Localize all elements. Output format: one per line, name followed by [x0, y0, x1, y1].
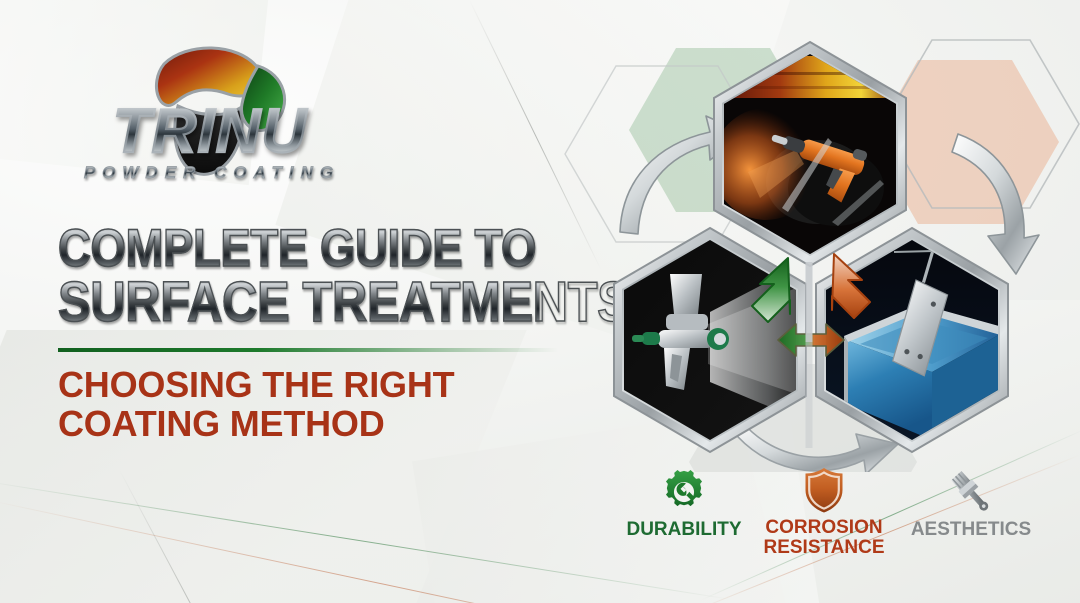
bg-hairline-gray-1	[119, 470, 289, 603]
feature-label: DURABILITY	[608, 520, 760, 540]
trefoil-ribbon-icon: TRINU POWDER COATING	[52, 36, 372, 186]
feature-aesthetics[interactable]: AESTHETICS	[888, 468, 1054, 540]
headline-line-1: COMPLETE GUIDE TO	[58, 224, 540, 274]
gear-wrench-icon	[608, 468, 760, 516]
logo-wordmark: TRINU	[113, 97, 309, 166]
title-divider	[58, 348, 558, 352]
logo-tagline: POWDER COATING	[84, 163, 340, 182]
brand-logo[interactable]: TRINU POWDER COATING	[52, 36, 372, 186]
paintbrush-icon	[888, 468, 1054, 516]
page-title: COMPLETE GUIDE TO SURFACE TREATMENTS	[58, 224, 618, 329]
poster-canvas: TRINU POWDER COATING COMPLETE GUIDE TO S…	[0, 0, 1080, 603]
feature-corrosion-resistance[interactable]: CORROSION RESISTANCE	[748, 466, 900, 558]
feature-badges: DURABILITY CORROSION RESISTANCE	[608, 466, 1054, 566]
coating-methods-graphic	[560, 12, 1080, 472]
shield-icon	[748, 466, 900, 514]
headline-line-2: SURFACE TREATMENTS	[58, 276, 540, 330]
feature-label: CORROSION RESISTANCE	[748, 518, 900, 558]
page-subtitle: CHOOSING THE RIGHT COATING METHOD	[58, 366, 578, 444]
feature-label: AESTHETICS	[888, 520, 1054, 540]
subtitle-line-1: CHOOSING THE RIGHT	[58, 366, 578, 405]
subtitle-line-2: COATING METHOD	[58, 405, 578, 444]
feature-durability[interactable]: DURABILITY	[608, 468, 760, 540]
